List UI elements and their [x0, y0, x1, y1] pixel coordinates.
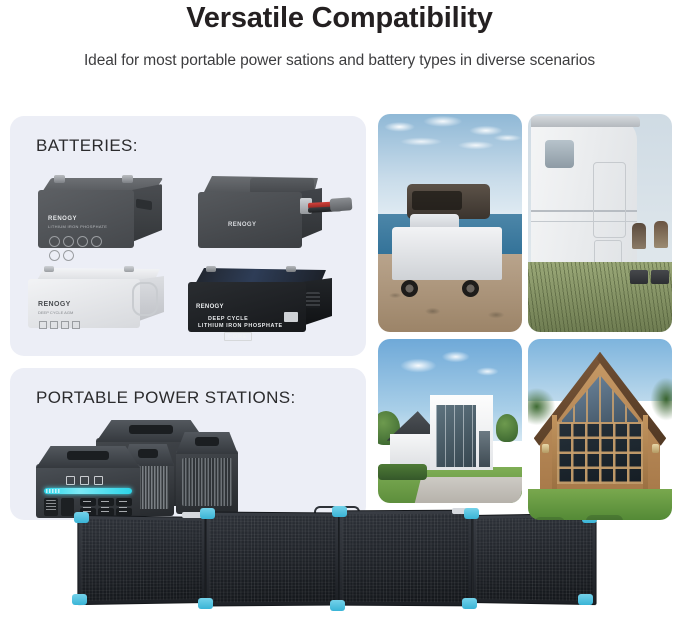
cable-connector-plug	[330, 197, 353, 212]
cabin-post	[643, 415, 648, 491]
solar-panel-fold-1	[77, 515, 205, 605]
agm-battery-face: RENOGY DEEP CYCLE AGM	[28, 279, 140, 328]
photo-a-frame-cabin	[528, 339, 672, 520]
foldable-solar-panel	[70, 506, 594, 614]
battery-brand-label: RENOGY	[48, 216, 77, 222]
person	[654, 221, 668, 248]
solar-cells	[476, 517, 592, 601]
battery-box-body: RENOGY	[198, 192, 302, 248]
power-station-right-tower	[176, 432, 238, 514]
truck-wheel	[462, 280, 479, 297]
core-spec-sticker	[284, 312, 298, 322]
solar-corner-protector	[578, 594, 593, 605]
clouds	[378, 346, 522, 395]
bush	[534, 517, 566, 520]
station-handle	[138, 449, 159, 458]
battery-terminal-negative	[122, 175, 133, 183]
camp-chair	[630, 270, 648, 284]
agm-carry-handle	[132, 282, 158, 316]
rocks	[378, 271, 522, 332]
station-vent-grill	[182, 458, 232, 506]
solar-corner-protector	[332, 506, 347, 517]
rv-awning	[531, 116, 640, 127]
hedge	[378, 464, 427, 480]
cabin-post	[552, 415, 557, 491]
core-battery-face: RENOGY DEEP CYCLE LITHIUM IRON PHOSPHATE…	[188, 282, 306, 332]
tree	[496, 414, 518, 442]
core-brand-label: RENOGY	[196, 304, 224, 310]
agm-terminal-positive	[44, 266, 54, 272]
core-battery-vent	[306, 292, 320, 308]
batteries-card-label: BATTERIES:	[36, 136, 138, 156]
solar-cells	[210, 516, 336, 603]
core-terminal-negative	[286, 266, 296, 272]
agm-terminal-negative	[124, 266, 134, 272]
solar-corner-protector	[198, 598, 213, 609]
product-battery-box: RENOGY	[198, 176, 340, 252]
agm-brand-label: RENOGY	[38, 301, 71, 308]
solar-corner-protector	[330, 600, 345, 611]
solar-corner-protector	[74, 512, 89, 523]
station-handle	[195, 437, 220, 446]
bush	[586, 515, 623, 520]
solar-corner-protector	[462, 598, 477, 609]
photo-rv-campers	[528, 114, 672, 332]
cabin-window-wall	[557, 422, 643, 484]
page-subtitle: Ideal for most portable power sations an…	[0, 52, 679, 70]
product-core-lifepo4-battery: RENOGY DEEP CYCLE LITHIUM IRON PHOSPHATE…	[188, 268, 340, 336]
solar-corner-protector	[200, 508, 215, 519]
battery-box-brand-label: RENOGY	[228, 222, 256, 228]
cabin-wall-lamp	[542, 444, 549, 453]
battery-side	[132, 184, 162, 242]
core-line1-label: DEEP CYCLE	[208, 316, 248, 322]
station-usb-ports	[46, 500, 56, 512]
battery-terminal-positive	[54, 175, 65, 183]
camp-chair	[651, 270, 669, 284]
battery-model-label: LITHIUM IRON PHOSPHATE	[48, 224, 107, 229]
battery-face: RENOGY LITHIUM IRON PHOSPHATE	[38, 190, 134, 248]
house-door	[479, 431, 491, 467]
core-badge-label: CORE	[224, 332, 252, 341]
truck-body	[392, 227, 501, 279]
station-display-icons	[66, 476, 103, 485]
station-led-strip	[44, 488, 132, 494]
certification-icons	[49, 236, 115, 254]
solar-cells	[82, 519, 202, 601]
page-title: Versatile Compatibility	[0, 2, 679, 35]
solar-cells	[343, 514, 469, 603]
station-handle	[129, 425, 173, 434]
rv-door	[593, 162, 627, 238]
solar-panel-fold-4	[472, 513, 596, 605]
rv-window	[545, 140, 574, 168]
station-handle	[67, 451, 109, 460]
person	[632, 223, 646, 249]
core-terminal-positive	[206, 266, 216, 272]
agm-certification-icons	[39, 321, 80, 329]
cabin-wall-lamp	[652, 444, 659, 453]
house-glass-facade	[436, 405, 476, 467]
power-station-group	[36, 418, 266, 520]
driveway	[415, 477, 522, 503]
photo-modern-house	[378, 339, 522, 503]
solar-corner-protector	[464, 508, 479, 519]
solar-panel-fold-3	[339, 510, 473, 607]
photo-truck-rooftop-tent	[378, 114, 522, 332]
product-agm-battery: RENOGY DEEP CYCLE AGM	[28, 268, 174, 334]
solar-corner-protector	[72, 594, 87, 605]
agm-model-label: DEEP CYCLE AGM	[38, 310, 73, 315]
power-stations-card-label: PORTABLE POWER STATIONS:	[36, 388, 296, 408]
core-line2-label: LITHIUM IRON PHOSPHATE	[198, 323, 283, 329]
product-smart-lithium-battery: RENOGY LITHIUM IRON PHOSPHATE	[36, 178, 166, 250]
solar-panel-fold-2	[205, 512, 339, 607]
